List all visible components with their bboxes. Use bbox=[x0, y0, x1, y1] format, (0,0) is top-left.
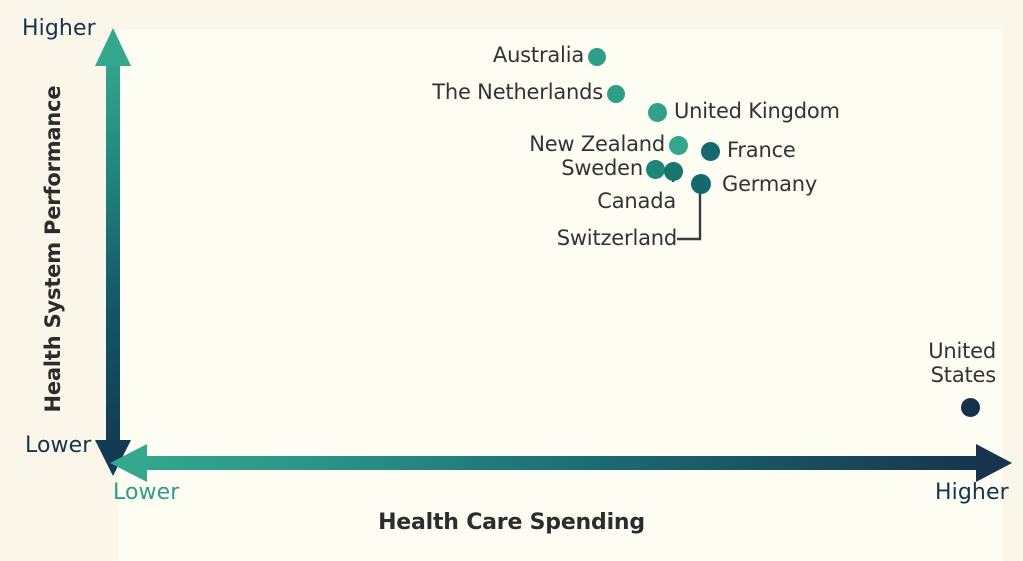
data-point-france[interactable] bbox=[701, 142, 720, 161]
data-point-new-zealand[interactable] bbox=[669, 136, 688, 155]
data-point-canada[interactable] bbox=[664, 162, 683, 181]
data-point-germany-switzerland[interactable] bbox=[691, 174, 711, 194]
point-label-united-kingdom: United Kingdom bbox=[674, 100, 894, 123]
y-axis-higher-label: Higher bbox=[22, 16, 96, 41]
point-label-new-zealand: New Zealand bbox=[469, 133, 665, 156]
chart-canvas: Higher Lower Lower Higher Health System … bbox=[0, 0, 1023, 561]
point-label-france: France bbox=[727, 139, 847, 162]
point-label-australia: Australia bbox=[438, 44, 584, 67]
point-label-germany: Germany bbox=[722, 173, 862, 196]
point-label-switzerland: Switzerland bbox=[449, 227, 677, 250]
y-axis-lower-label: Lower bbox=[25, 433, 91, 458]
point-label-united-states: United States bbox=[866, 340, 996, 387]
x-axis-lower-label: Lower bbox=[113, 480, 179, 505]
point-label-united-states-line1: United bbox=[866, 340, 996, 364]
point-label-canada: Canada bbox=[496, 190, 676, 213]
x-axis-higher-label: Higher bbox=[935, 480, 1009, 505]
point-label-sweden: Sweden bbox=[453, 157, 643, 180]
y-axis-title: Health System Performance bbox=[41, 84, 65, 414]
data-point-united-states[interactable] bbox=[961, 398, 980, 417]
x-axis-title: Health Care Spending bbox=[0, 510, 1023, 535]
point-label-united-states-line2: States bbox=[866, 364, 996, 388]
point-label-netherlands: The Netherlands bbox=[373, 81, 603, 104]
data-point-united-kingdom[interactable] bbox=[648, 103, 667, 122]
data-point-netherlands[interactable] bbox=[607, 85, 625, 103]
data-point-sweden[interactable] bbox=[646, 160, 665, 179]
data-point-australia[interactable] bbox=[588, 48, 606, 66]
